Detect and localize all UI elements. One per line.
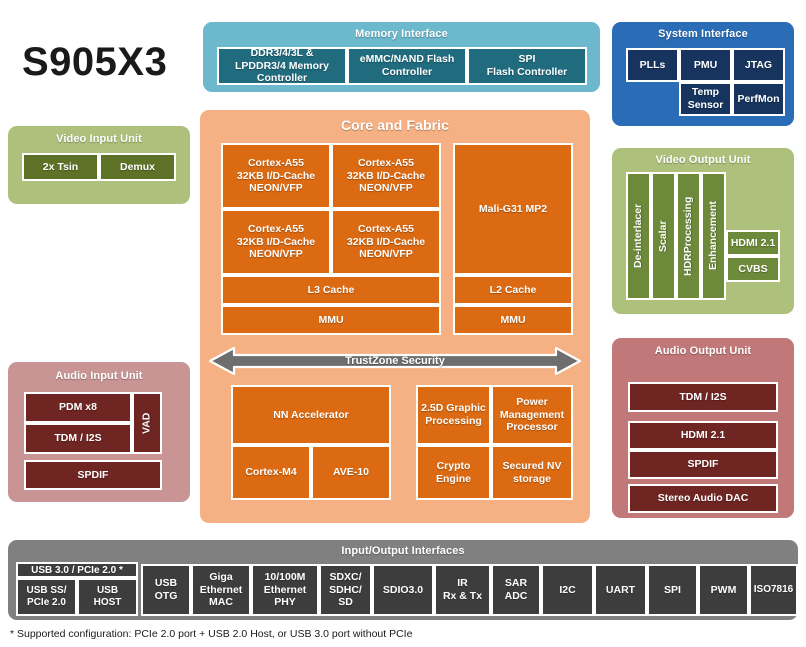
block-pwm[interactable]: PWM xyxy=(698,564,749,616)
panel-title-core-and-fabric: Core and Fabric xyxy=(200,118,590,133)
panel-title-video-output-unit: Video Output Unit xyxy=(612,154,794,166)
panel-video-output-unit: Video Output Unit De-interlacer Scalar H… xyxy=(612,148,794,314)
panel-memory-interface: Memory Interface DDR3/4/3L & LPDDR3/4 Me… xyxy=(203,22,600,92)
block-trustzone-security[interactable]: TrustZone Security xyxy=(208,346,582,376)
block-crypto-engine[interactable]: Crypto Engine xyxy=(416,445,491,500)
block-plls[interactable]: PLLs xyxy=(626,48,679,82)
panel-core-and-fabric: Core and Fabric Cortex-A55 32KB I/D-Cach… xyxy=(200,110,590,523)
block-cortex-a55-2[interactable]: Cortex-A55 32KB I/D-Cache NEON/VFP xyxy=(221,209,331,275)
block-spdif-out[interactable]: SPDIF xyxy=(628,450,778,479)
block-mali-g31-mp2[interactable]: Mali-G31 MP2 xyxy=(453,143,573,275)
block-tdm-i2s-out[interactable]: TDM / I2S xyxy=(628,382,778,412)
block-spi-flash-controller[interactable]: SPI Flash Controller xyxy=(467,47,587,85)
panel-title-system-interface: System Interface xyxy=(612,28,794,40)
block-hdr-processing[interactable]: HDRProcessing xyxy=(676,172,701,300)
panel-audio-input-unit: Audio Input Unit PDM x8 TDM / I2S VAD SP… xyxy=(8,362,190,502)
page-title: S905X3 xyxy=(22,40,167,85)
block-cortex-a55-3[interactable]: Cortex-A55 32KB I/D-Cache NEON/VFP xyxy=(331,209,441,275)
block-audio-hdmi21[interactable]: HDMI 2.1 xyxy=(628,421,778,450)
block-i2c[interactable]: I2C xyxy=(541,564,594,616)
block-usb-ss-pcie20[interactable]: USB SS/ PCIe 2.0 xyxy=(16,578,77,616)
block-ddr-controller[interactable]: DDR3/4/3L & LPDDR3/4 Memory Controller xyxy=(217,47,347,85)
panel-title-audio-output-unit: Audio Output Unit xyxy=(612,345,794,357)
block-cortex-a55-0[interactable]: Cortex-A55 32KB I/D-Cache NEON/VFP xyxy=(221,143,331,209)
block-stereo-audio-dac[interactable]: Stereo Audio DAC xyxy=(628,484,778,513)
block-emmc-nand-controller[interactable]: eMMC/NAND Flash Controller xyxy=(347,47,467,85)
block-l2-cache[interactable]: L2 Cache xyxy=(453,275,573,305)
panel-title-io-interfaces: Input/Output Interfaces xyxy=(8,545,798,557)
block-perfmon[interactable]: PerfMon xyxy=(732,82,785,116)
block-uart[interactable]: UART xyxy=(594,564,647,616)
block-jtag[interactable]: JTAG xyxy=(732,48,785,82)
block-ave-10[interactable]: AVE-10 xyxy=(311,445,391,500)
block-vad[interactable]: VAD xyxy=(132,392,162,454)
block-tdm-i2s-in[interactable]: TDM / I2S xyxy=(24,423,132,454)
block-usb30-pcie20-header[interactable]: USB 3.0 / PCIe 2.0 * xyxy=(16,562,138,578)
block-cpu-mmu[interactable]: MMU xyxy=(221,305,441,335)
block-2x-tsin[interactable]: 2x Tsin xyxy=(22,153,99,181)
block-temp-sensor[interactable]: Temp Sensor xyxy=(679,82,732,116)
block-l3-cache[interactable]: L3 Cache xyxy=(221,275,441,305)
block-video-hdmi21[interactable]: HDMI 2.1 xyxy=(726,230,780,256)
block-pdm-x8[interactable]: PDM x8 xyxy=(24,392,132,423)
block-sdio30[interactable]: SDIO3.0 xyxy=(372,564,434,616)
panel-title-memory-interface: Memory Interface xyxy=(203,28,600,40)
block-usb-host[interactable]: USB HOST xyxy=(77,578,138,616)
panel-title-audio-input-unit: Audio Input Unit xyxy=(8,370,190,382)
block-power-management-processor[interactable]: Power Management Processor xyxy=(491,385,573,445)
block-spdif-in[interactable]: SPDIF xyxy=(24,460,162,490)
block-cvbs[interactable]: CVBS xyxy=(726,256,780,282)
block-de-interlacer[interactable]: De-interlacer xyxy=(626,172,651,300)
panel-audio-output-unit: Audio Output Unit TDM / I2S HDMI 2.1 SPD… xyxy=(612,338,794,518)
panel-system-interface: System Interface PLLs PMU JTAG Temp Sens… xyxy=(612,22,794,126)
block-enhancement[interactable]: Enhancement xyxy=(701,172,726,300)
panel-io-interfaces: Input/Output Interfaces USB 3.0 / PCIe 2… xyxy=(8,540,798,620)
panel-title-video-input-unit: Video Input Unit xyxy=(8,133,190,145)
block-2-5d-graphic-processing[interactable]: 2.5D Graphic Processing xyxy=(416,385,491,445)
block-pmu[interactable]: PMU xyxy=(679,48,732,82)
footnote-text: * Supported configuration: PCIe 2.0 port… xyxy=(10,628,412,640)
block-ir-rx-tx[interactable]: IR Rx & Tx xyxy=(434,564,491,616)
block-demux[interactable]: Demux xyxy=(99,153,176,181)
block-diagram-canvas: S905X3 Memory Interface DDR3/4/3L & LPDD… xyxy=(0,0,806,647)
trustzone-security-label: TrustZone Security xyxy=(208,346,582,376)
block-giga-ethernet-mac[interactable]: Giga Ethernet MAC xyxy=(191,564,251,616)
block-scalar[interactable]: Scalar xyxy=(651,172,676,300)
block-sar-adc[interactable]: SAR ADC xyxy=(491,564,541,616)
panel-video-input-unit: Video Input Unit 2x Tsin Demux xyxy=(8,126,190,204)
block-iso7816[interactable]: ISO7816 xyxy=(749,564,798,616)
block-secured-nv-storage[interactable]: Secured NV storage xyxy=(491,445,573,500)
block-nn-accelerator[interactable]: NN Accelerator xyxy=(231,385,391,445)
block-sdxc-sdhc-sd[interactable]: SDXC/ SDHC/ SD xyxy=(319,564,372,616)
block-cortex-m4[interactable]: Cortex-M4 xyxy=(231,445,311,500)
block-usb-otg[interactable]: USB OTG xyxy=(141,564,191,616)
block-gpu-mmu[interactable]: MMU xyxy=(453,305,573,335)
block-spi[interactable]: SPI xyxy=(647,564,698,616)
block-cortex-a55-1[interactable]: Cortex-A55 32KB I/D-Cache NEON/VFP xyxy=(331,143,441,209)
block-10-100m-ethernet-phy[interactable]: 10/100M Ethernet PHY xyxy=(251,564,319,616)
